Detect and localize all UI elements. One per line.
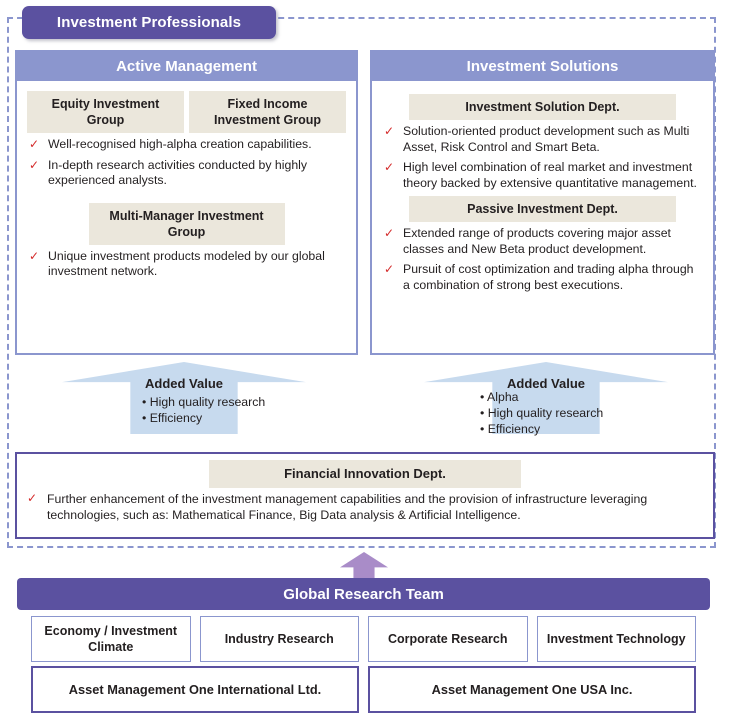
list-item: ✓ Pursuit of cost optimization and tradi… [382,262,703,293]
check-icon: ✓ [27,491,37,507]
research-box-investment-technology: Investment Technology [537,616,697,662]
bullet-text: Extended range of products covering majo… [403,226,671,256]
list-item: • Efficiency [480,421,668,437]
bullet-text: Pursuit of cost optimization and trading… [403,262,694,292]
investment-professionals-badge: Investment Professionals [22,6,276,39]
panel-investment-solutions-header: Investment Solutions [372,52,713,81]
bullet-text: Further enhancement of the investment ma… [47,492,647,522]
check-icon: ✓ [384,124,394,140]
diagram-canvas: Investment Professionals Active Manageme… [0,0,730,725]
active-group-row: Equity Investment Group Fixed Income Inv… [27,91,346,133]
group-fixed-income: Fixed Income Investment Group [189,91,346,133]
list-item: • Efficiency [142,410,306,426]
panel-active-management-header: Active Management [17,52,356,81]
panel-investment-solutions-body: Investment Solution Dept. ✓ Solution-ori… [372,81,713,293]
bullet-text: In-depth research activities conducted b… [48,158,307,188]
list-item: ✓ Extended range of products covering ma… [382,226,703,257]
panel-financial-innovation: Financial Innovation Dept. ✓ Further enh… [15,452,715,539]
financial-innovation-bullets: ✓ Further enhancement of the investment … [17,491,713,523]
list-item: ✓ High level combination of real market … [382,160,703,191]
check-icon: ✓ [29,249,39,265]
check-icon: ✓ [384,262,394,278]
badge-label: Investment Professionals [57,14,241,31]
global-research-team-title: Global Research Team [283,586,444,603]
group-multi-manager: Multi-Manager Investment Group [89,203,285,245]
list-item: ✓ Further enhancement of the investment … [25,491,705,523]
list-item: • High quality research [142,394,306,410]
dept-passive-investment: Passive Investment Dept. [409,196,676,222]
bullet-text: Solution-oriented product development su… [403,124,689,154]
dept-investment-solution: Investment Solution Dept. [409,94,676,120]
panel-active-management-body: Equity Investment Group Fixed Income Inv… [17,81,356,280]
active-bullets-top: ✓ Well-recognised high-alpha creation ca… [27,137,346,189]
bullet-text: High level combination of real market an… [403,160,697,190]
bullet-text: Well-recognised high-alpha creation capa… [48,137,312,151]
list-item: • Alpha [480,389,668,405]
solutions-bullets-dept1: ✓ Solution-oriented product development … [382,124,703,191]
check-icon: ✓ [384,160,394,176]
list-item: • High quality research [480,405,668,421]
panel-title: Active Management [116,58,257,75]
bullet-text: Unique investment products modeled by ou… [48,249,325,279]
entity-asset-management-one-international: Asset Management One International Ltd. [31,666,359,713]
added-value-title: Added Value [62,376,306,391]
panel-investment-solutions: Investment Solutions Investment Solution… [370,50,715,355]
research-box-economy-investment-climate: Economy / Investment Climate [31,616,191,662]
solutions-bullets-dept2: ✓ Extended range of products covering ma… [382,226,703,293]
list-item: ✓ In-depth research activities conducted… [27,158,346,189]
global-research-team-bar: Global Research Team [17,578,710,610]
entity-asset-management-one-usa: Asset Management One USA Inc. [368,666,696,713]
added-value-arrow-left: Added Value • High quality research • Ef… [62,362,306,434]
list-item: ✓ Unique investment products modeled by … [27,249,346,280]
added-value-items-right: • Alpha • High quality research • Effici… [424,389,668,437]
dept-financial-innovation: Financial Innovation Dept. [209,460,521,488]
research-box-corporate-research: Corporate Research [368,616,528,662]
added-value-arrow-right: Added Value • Alpha • High quality resea… [424,362,668,434]
group-equity-investment: Equity Investment Group [27,91,184,133]
added-value-items-left: • High quality research • Efficiency [62,394,306,426]
check-icon: ✓ [29,158,39,174]
list-item: ✓ Well-recognised high-alpha creation ca… [27,137,346,153]
list-item: ✓ Solution-oriented product development … [382,124,703,155]
research-box-industry-research: Industry Research [200,616,360,662]
check-icon: ✓ [29,137,39,153]
check-icon: ✓ [384,226,394,242]
research-box-row: Economy / Investment Climate Industry Re… [31,616,696,662]
panel-title: Investment Solutions [467,58,619,75]
active-bullets-multimanager: ✓ Unique investment products modeled by … [27,249,346,280]
asset-management-entity-row: Asset Management One International Ltd. … [31,666,696,713]
panel-active-management: Active Management Equity Investment Grou… [15,50,358,355]
